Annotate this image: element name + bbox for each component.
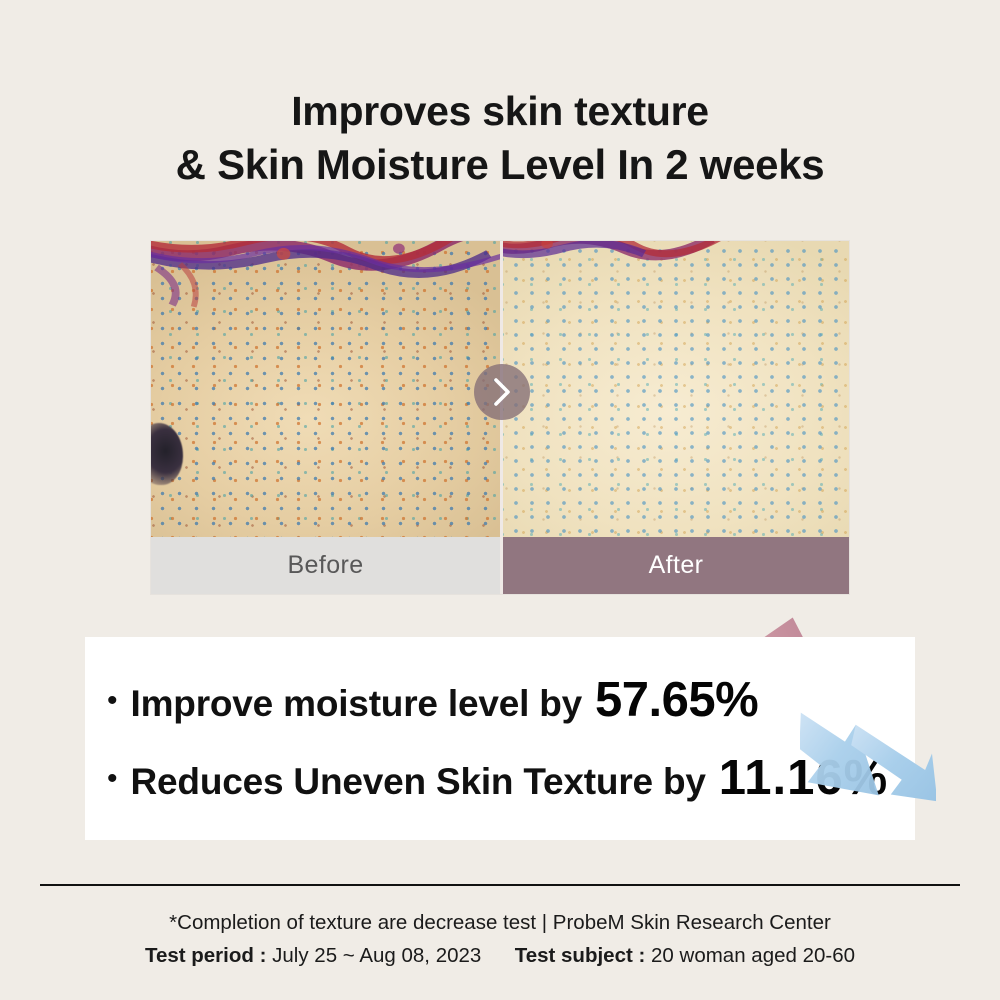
- claims-box: • Improve moisture level by 57.65% • Red…: [85, 637, 915, 840]
- test-subject-value: 20 woman aged 20-60: [651, 944, 855, 967]
- footnotes: *Completion of texture are decrease test…: [0, 906, 1000, 972]
- skin-vessel-band: [151, 241, 500, 312]
- claim-value: 57.65%: [595, 672, 758, 728]
- claim-text: Reduces Uneven Skin Texture by: [131, 761, 706, 803]
- bullet-icon: •: [107, 764, 118, 794]
- arrow-down-icon: [800, 700, 936, 812]
- headline-line-1: Improves skin texture: [0, 84, 1000, 138]
- test-period-value: July 25 ~ Aug 08, 2023: [272, 944, 481, 967]
- page-title: Improves skin texture & Skin Moisture Le…: [0, 84, 1000, 192]
- after-panel: After: [500, 241, 849, 594]
- before-caption: Before: [151, 537, 500, 594]
- skin-vessel-band: [503, 241, 849, 312]
- before-skin-photo: [151, 241, 500, 537]
- chevron-right-icon[interactable]: [474, 364, 530, 420]
- bullet-icon: •: [107, 686, 118, 716]
- divider: [40, 884, 960, 886]
- test-period-label: Test period :: [145, 944, 267, 967]
- before-panel: Before: [151, 241, 500, 594]
- footnote-line-1: *Completion of texture are decrease test…: [0, 906, 1000, 939]
- claim-text: Improve moisture level by: [131, 683, 583, 725]
- after-caption: After: [503, 537, 849, 594]
- headline-line-2: & Skin Moisture Level In 2 weeks: [0, 138, 1000, 192]
- claim-item: • Improve moisture level by 57.65%: [107, 672, 915, 728]
- after-skin-photo: [503, 241, 849, 537]
- footnote-line-2: Test period : July 25 ~ Aug 08, 2023 Tes…: [0, 939, 1000, 972]
- test-subject-label: Test subject :: [515, 944, 646, 967]
- claim-item: • Reduces Uneven Skin Texture by 11.16%: [107, 750, 915, 806]
